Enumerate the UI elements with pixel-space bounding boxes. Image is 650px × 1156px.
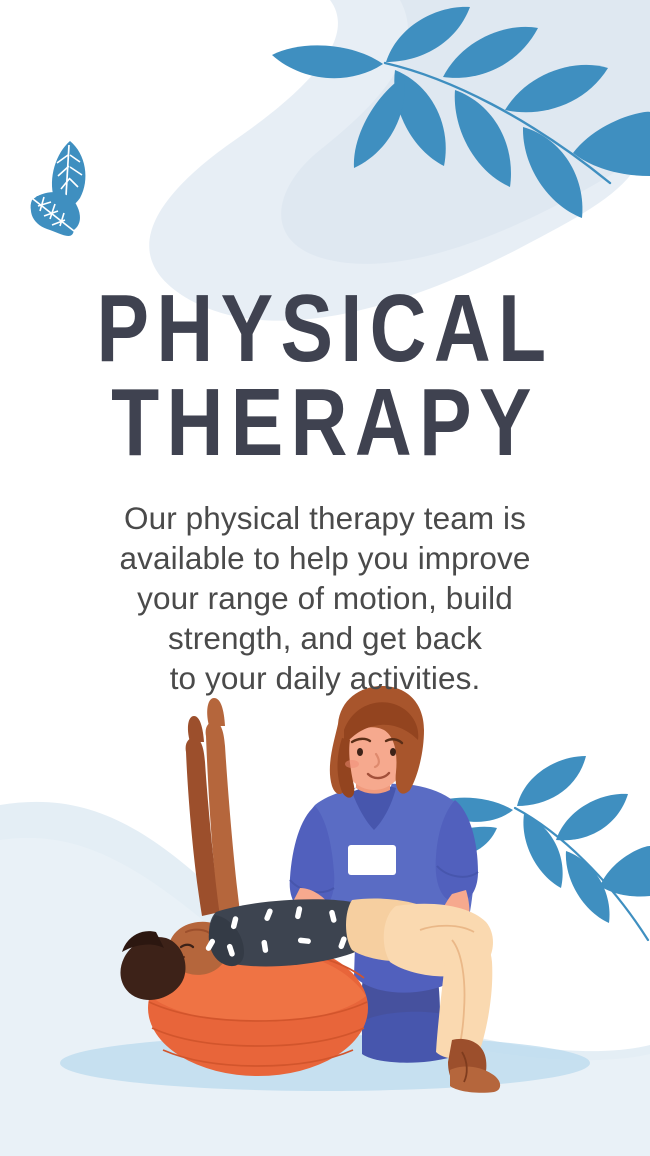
therapist-name-badge bbox=[348, 845, 396, 875]
body-paragraph: Our physical therapy team is available t… bbox=[0, 498, 650, 698]
page-title: PHYSICAL THERAPY bbox=[59, 282, 592, 470]
patient-hand-near bbox=[207, 698, 225, 726]
patient-hand-far bbox=[188, 716, 204, 742]
therapist-blush bbox=[345, 760, 359, 768]
patient-foot bbox=[450, 1067, 500, 1093]
poster-canvas: PHYSICAL THERAPY Our physical therapy te… bbox=[0, 0, 650, 1156]
therapist-eye-right bbox=[390, 748, 396, 756]
therapist-eye-left bbox=[357, 748, 363, 756]
